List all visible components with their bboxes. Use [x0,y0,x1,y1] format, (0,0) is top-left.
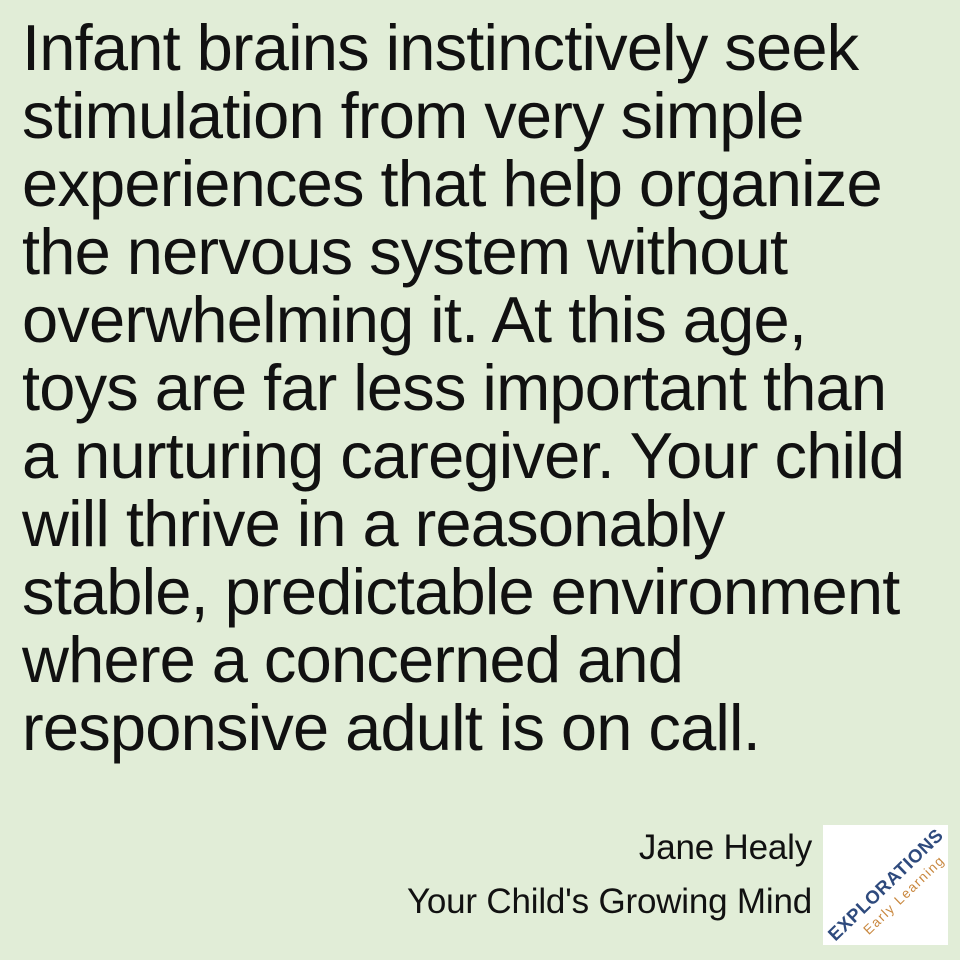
quote-line: where a concerned and [22,626,938,694]
attribution-block: Jane Healy Your Child's Growing Mind [292,826,812,924]
quote-line: stable, predictable environment [22,558,938,626]
quote-author: Jane Healy [292,826,812,870]
quote-line: Infant brains instinctively seek [22,14,938,82]
quote-line: experiences that help organize [22,150,938,218]
quote-line: a nurturing caregiver. Your child [22,422,938,490]
quote-body: Infant brains instinctively seek stimula… [22,14,938,762]
explorations-early-learning-logo: EXPLORATIONS Early Learning [823,825,948,945]
logo-wordmark: EXPLORATIONS [824,826,946,945]
quote-source-title: Your Child's Growing Mind [292,880,812,924]
quote-line: overwhelming it. At this age, [22,286,938,354]
quote-line: the nervous system without [22,218,938,286]
quote-line: toys are far less important than [22,354,938,422]
quote-line: responsive adult is on call. [22,694,938,762]
quote-line: will thrive in a reasonably [22,490,938,558]
quote-card: Infant brains instinctively seek stimula… [0,0,960,960]
logo-inner: EXPLORATIONS Early Learning [823,825,948,945]
quote-line: stimulation from very simple [22,82,938,150]
